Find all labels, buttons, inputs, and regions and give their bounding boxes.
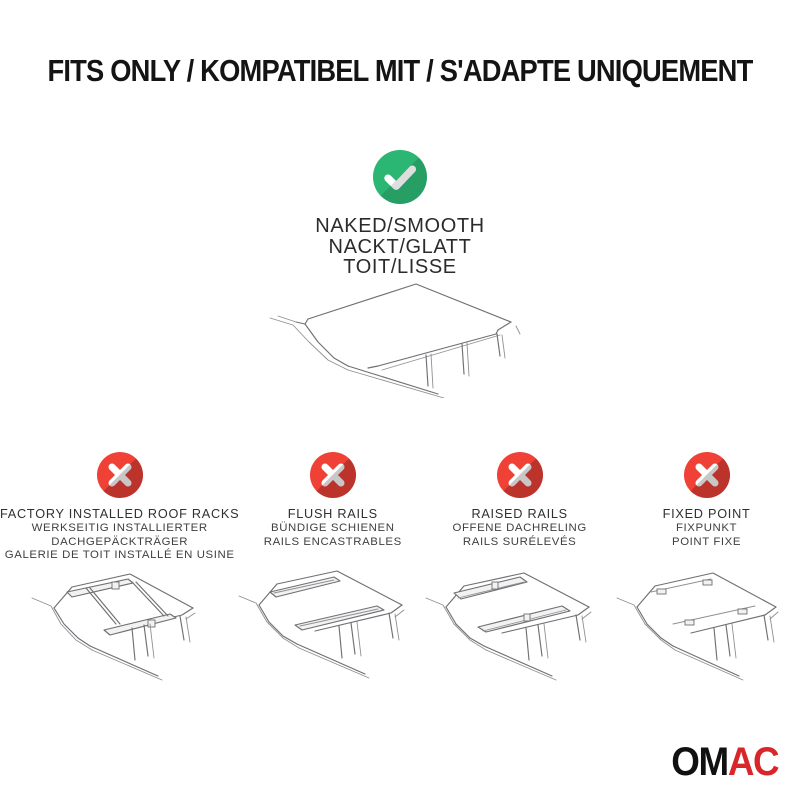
approved-label-line-1: NAKED/SMOOTH [0,216,800,237]
rejected-item-fixed-point: FIXED POINT FIXPUNKT POINT FIXE [613,452,800,563]
approved-roof-type: NAKED/SMOOTH NACKT/GLATT TOIT/LISSE [0,150,800,278]
label-line-1: FLUSH RAILS [239,507,426,522]
label-line-3: POINT FIXE [613,536,800,550]
check-circle-icon [373,150,427,204]
label-line-2: OFFENE DACHRELING [426,522,613,536]
label-line-2: FIXPUNKT [613,522,800,536]
label-line-1: FACTORY INSTALLED ROOF RACKS [0,507,239,522]
x-circle-icon [497,452,543,498]
page-title: FITS ONLY / KOMPATIBEL MIT / S'ADAPTE UN… [42,54,758,89]
x-circle-icon [310,452,356,498]
rejected-label-flush-rails: FLUSH RAILS BÜNDIGE SCHIENEN RAILS ENCAS… [239,507,426,549]
badge-shadow [373,150,427,204]
label-line-1: RAISED RAILS [426,507,613,522]
rejected-label-raised-rails: RAISED RAILS OFFENE DACHRELING RAILS SUR… [426,507,613,549]
factory-roof-rack-illustration [20,552,220,682]
approved-label-line-2: NACKT/GLATT [0,237,800,258]
rejected-roof-types: FACTORY INSTALLED ROOF RACKS WERKSEITIG … [0,452,800,563]
smooth-roof-illustration [248,278,568,398]
rejected-item-flush-rails: FLUSH RAILS BÜNDIGE SCHIENEN RAILS ENCAS… [239,452,426,563]
label-line-3: RAILS ENCASTRABLES [239,536,426,550]
rejected-item-raised-rails: RAISED RAILS OFFENE DACHRELING RAILS SUR… [426,452,613,563]
x-circle-icon [684,452,730,498]
logo-text-om: OM [671,740,728,784]
label-line-1: FIXED POINT [613,507,800,522]
logo-text-ac: AC [728,740,778,784]
raised-rails-illustration [420,552,620,682]
badge-shadow [97,452,143,498]
badge-shadow [684,452,730,498]
approved-label: NAKED/SMOOTH NACKT/GLATT TOIT/LISSE [0,216,800,278]
label-line-3: DACHGEPÄCKTRÄGER [0,536,239,550]
approved-label-line-3: TOIT/LISSE [0,257,800,278]
rejected-label-fixed-point: FIXED POINT FIXPUNKT POINT FIXE [613,507,800,549]
label-line-2: WERKSEITIG INSTALLIERTER [0,522,239,536]
rejected-item-factory-roof-racks: FACTORY INSTALLED ROOF RACKS WERKSEITIG … [0,452,239,563]
flush-rails-illustration [233,552,433,682]
x-circle-icon [97,452,143,498]
label-line-2: BÜNDIGE SCHIENEN [239,522,426,536]
fixed-point-illustration [607,552,800,682]
badge-shadow [310,452,356,498]
badge-shadow [497,452,543,498]
omac-logo: OMAC [671,742,778,782]
label-line-3: RAILS SURÉLEVÉS [426,536,613,550]
